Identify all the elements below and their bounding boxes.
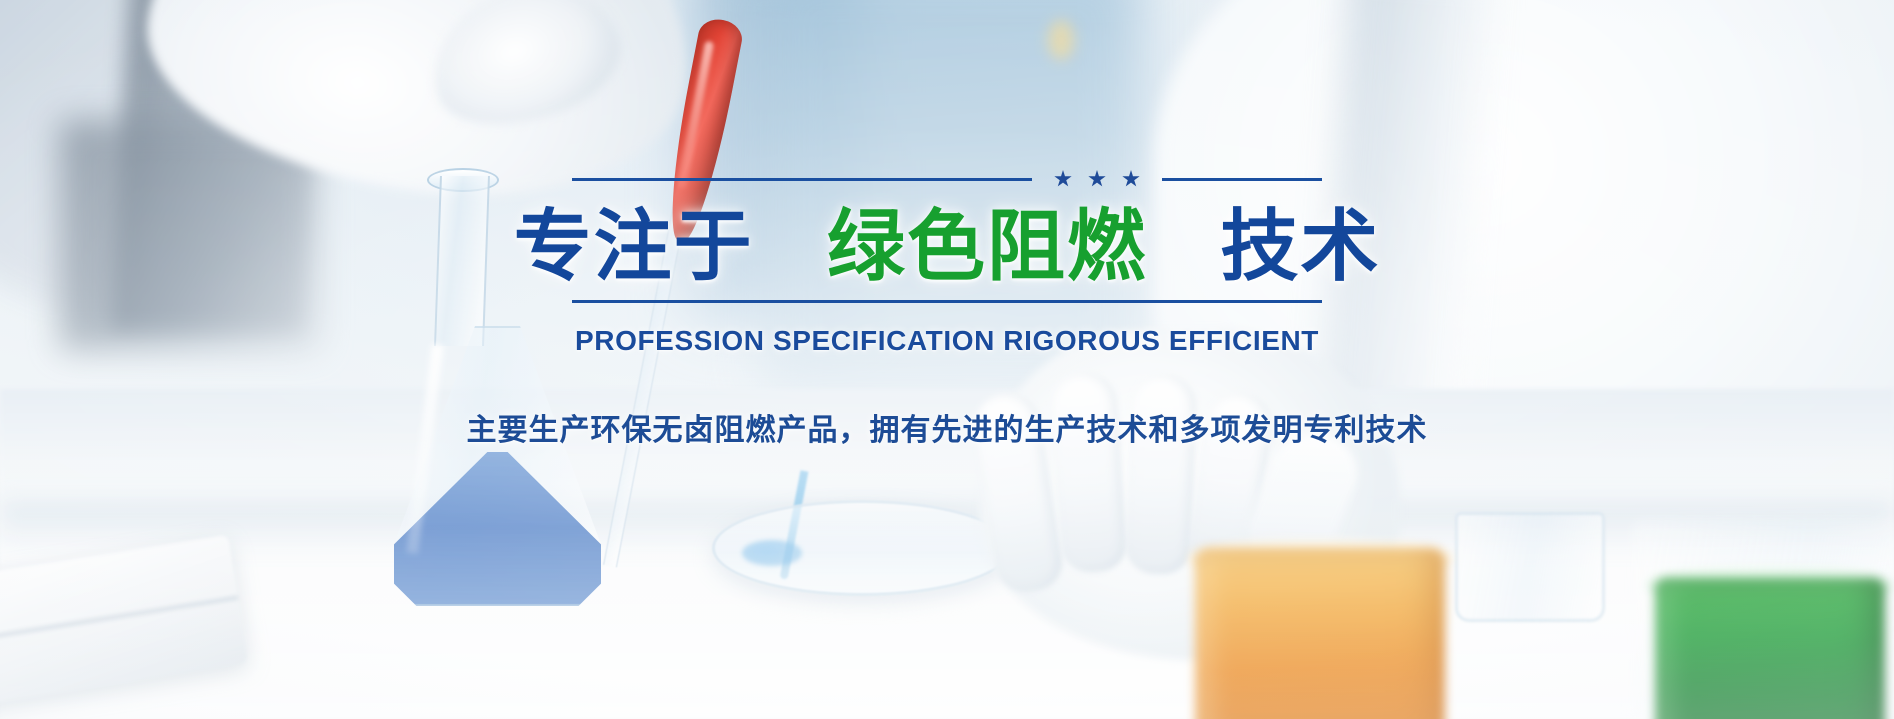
page-title: 专注于 绿色阻燃 技术 bbox=[510, 198, 1385, 298]
divider-line-left bbox=[572, 178, 1032, 181]
star-group bbox=[1044, 170, 1150, 188]
divider-line-right bbox=[1162, 178, 1322, 181]
description-chinese: 主要生产环保无卤阻燃产品，拥有先进的生产技术和多项发明专利技术 bbox=[467, 405, 1428, 449]
headline-part-1: 专注于 bbox=[514, 202, 754, 290]
headline-part-2: 绿色阻燃 bbox=[827, 202, 1147, 290]
banner-content: 专注于 绿色阻燃 技术 PROFESSION SPECIFICATION RIG… bbox=[0, 0, 1894, 719]
hero-banner: 专注于 绿色阻燃 技术 PROFESSION SPECIFICATION RIG… bbox=[0, 0, 1894, 719]
star-icon bbox=[1088, 170, 1106, 188]
headline-part-3: 技术 bbox=[1220, 202, 1380, 290]
subtitle-english: PROFESSION SPECIFICATION RIGOROUS EFFICI… bbox=[575, 325, 1319, 357]
star-divider bbox=[572, 170, 1322, 188]
star-icon bbox=[1122, 170, 1140, 188]
headline-underline bbox=[572, 300, 1322, 303]
star-icon bbox=[1054, 170, 1072, 188]
